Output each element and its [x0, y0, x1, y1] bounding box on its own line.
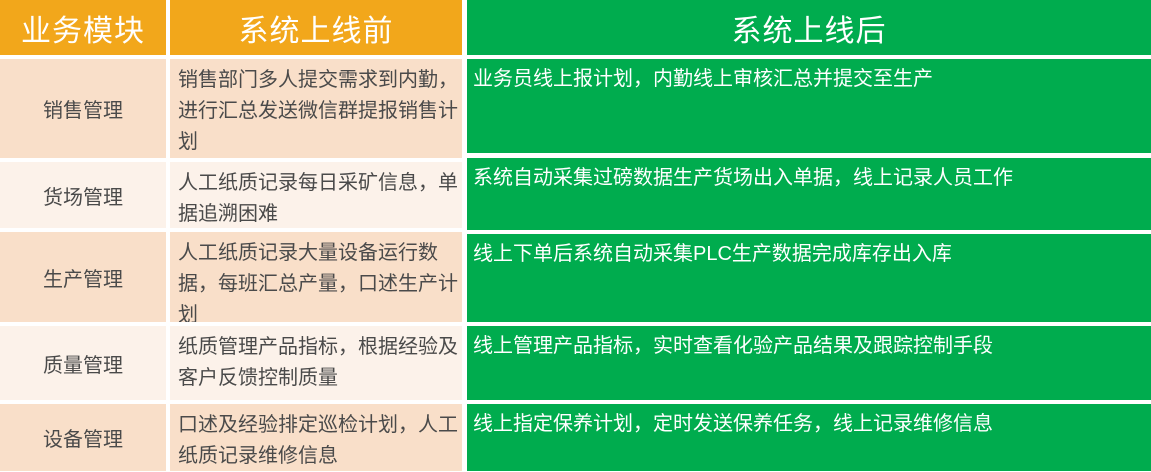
table-header-module: 业务模块 [0, 0, 166, 55]
before-cell: 人工纸质记录每日采矿信息，单据追溯困难 [170, 162, 462, 228]
after-cell: 业务员线上报计划，内勤线上审核汇总并提交至生产 [467, 59, 1151, 153]
before-text: 纸质管理产品指标，根据经验及客户反馈控制质量 [178, 332, 458, 394]
comparison-table: 业务模块 系统上线前 系统上线后 销售管理 销售部门多人提交需求到内勤，进行汇总… [0, 0, 1151, 471]
table-header-before-label: 系统上线前 [239, 6, 394, 50]
table-header-after: 系统上线后 [467, 0, 1151, 55]
table-row: 生产管理 [0, 232, 166, 322]
before-text: 销售部门多人提交需求到内勤，进行汇总发送微信群提报销售计划 [178, 65, 458, 158]
after-text: 线上下单后系统自动采集PLC生产数据完成库存出入库 [473, 243, 952, 265]
before-cell: 销售部门多人提交需求到内勤，进行汇总发送微信群提报销售计划 [170, 59, 462, 158]
table-header-after-label: 系统上线后 [732, 6, 887, 50]
before-cell: 纸质管理产品指标，根据经验及客户反馈控制质量 [170, 326, 462, 400]
green-row-divider-2 [467, 230, 1151, 234]
before-cell: 人工纸质记录大量设备运行数据，每班汇总产量，口述生产计划 [170, 232, 462, 322]
header-divider [0, 55, 1151, 59]
row-divider-2 [0, 228, 462, 232]
green-row-divider-4 [467, 400, 1151, 404]
table-row: 设备管理 [0, 404, 166, 471]
before-text: 人工纸质记录每日采矿信息，单据追溯困难 [178, 168, 458, 230]
after-text: 系统自动采集过磅数据生产货场出入单据，线上记录人员工作 [473, 167, 1013, 189]
after-text: 线上指定保养计划，定时发送保养任务，线上记录维修信息 [473, 413, 993, 435]
column-divider-2 [462, 0, 466, 471]
before-text: 口述及经验排定巡检计划，人工纸质记录维修信息 [178, 410, 458, 472]
table-row: 质量管理 [0, 326, 166, 400]
green-row-divider-1 [467, 153, 1151, 157]
row-divider-3 [0, 322, 462, 326]
after-cell: 线上指定保养计划，定时发送保养任务，线上记录维修信息 [467, 404, 1151, 471]
table-row: 货场管理 [0, 162, 166, 228]
before-cell: 口述及经验排定巡检计划，人工纸质记录维修信息 [170, 404, 462, 471]
after-text: 业务员线上报计划，内勤线上审核汇总并提交至生产 [473, 68, 933, 90]
module-name: 设备管理 [43, 423, 123, 452]
row-divider-4 [0, 400, 462, 404]
after-cell: 线上管理产品指标，实时查看化验产品结果及跟踪控制手段 [467, 326, 1151, 400]
module-name: 质量管理 [43, 349, 123, 378]
table-header-module-label: 业务模块 [21, 6, 145, 50]
row-divider-1 [0, 158, 462, 162]
before-text: 人工纸质记录大量设备运行数据，每班汇总产量，口述生产计划 [178, 238, 458, 331]
after-cell: 系统自动采集过磅数据生产货场出入单据，线上记录人员工作 [467, 158, 1151, 230]
after-cell: 线上下单后系统自动采集PLC生产数据完成库存出入库 [467, 234, 1151, 322]
module-name: 货场管理 [43, 181, 123, 210]
after-text: 线上管理产品指标，实时查看化验产品结果及跟踪控制手段 [473, 335, 993, 357]
table-row: 销售管理 [0, 59, 166, 158]
module-name: 生产管理 [43, 263, 123, 292]
green-row-divider-3 [467, 322, 1151, 326]
module-name: 销售管理 [43, 94, 123, 123]
table-header-before: 系统上线前 [170, 0, 462, 55]
